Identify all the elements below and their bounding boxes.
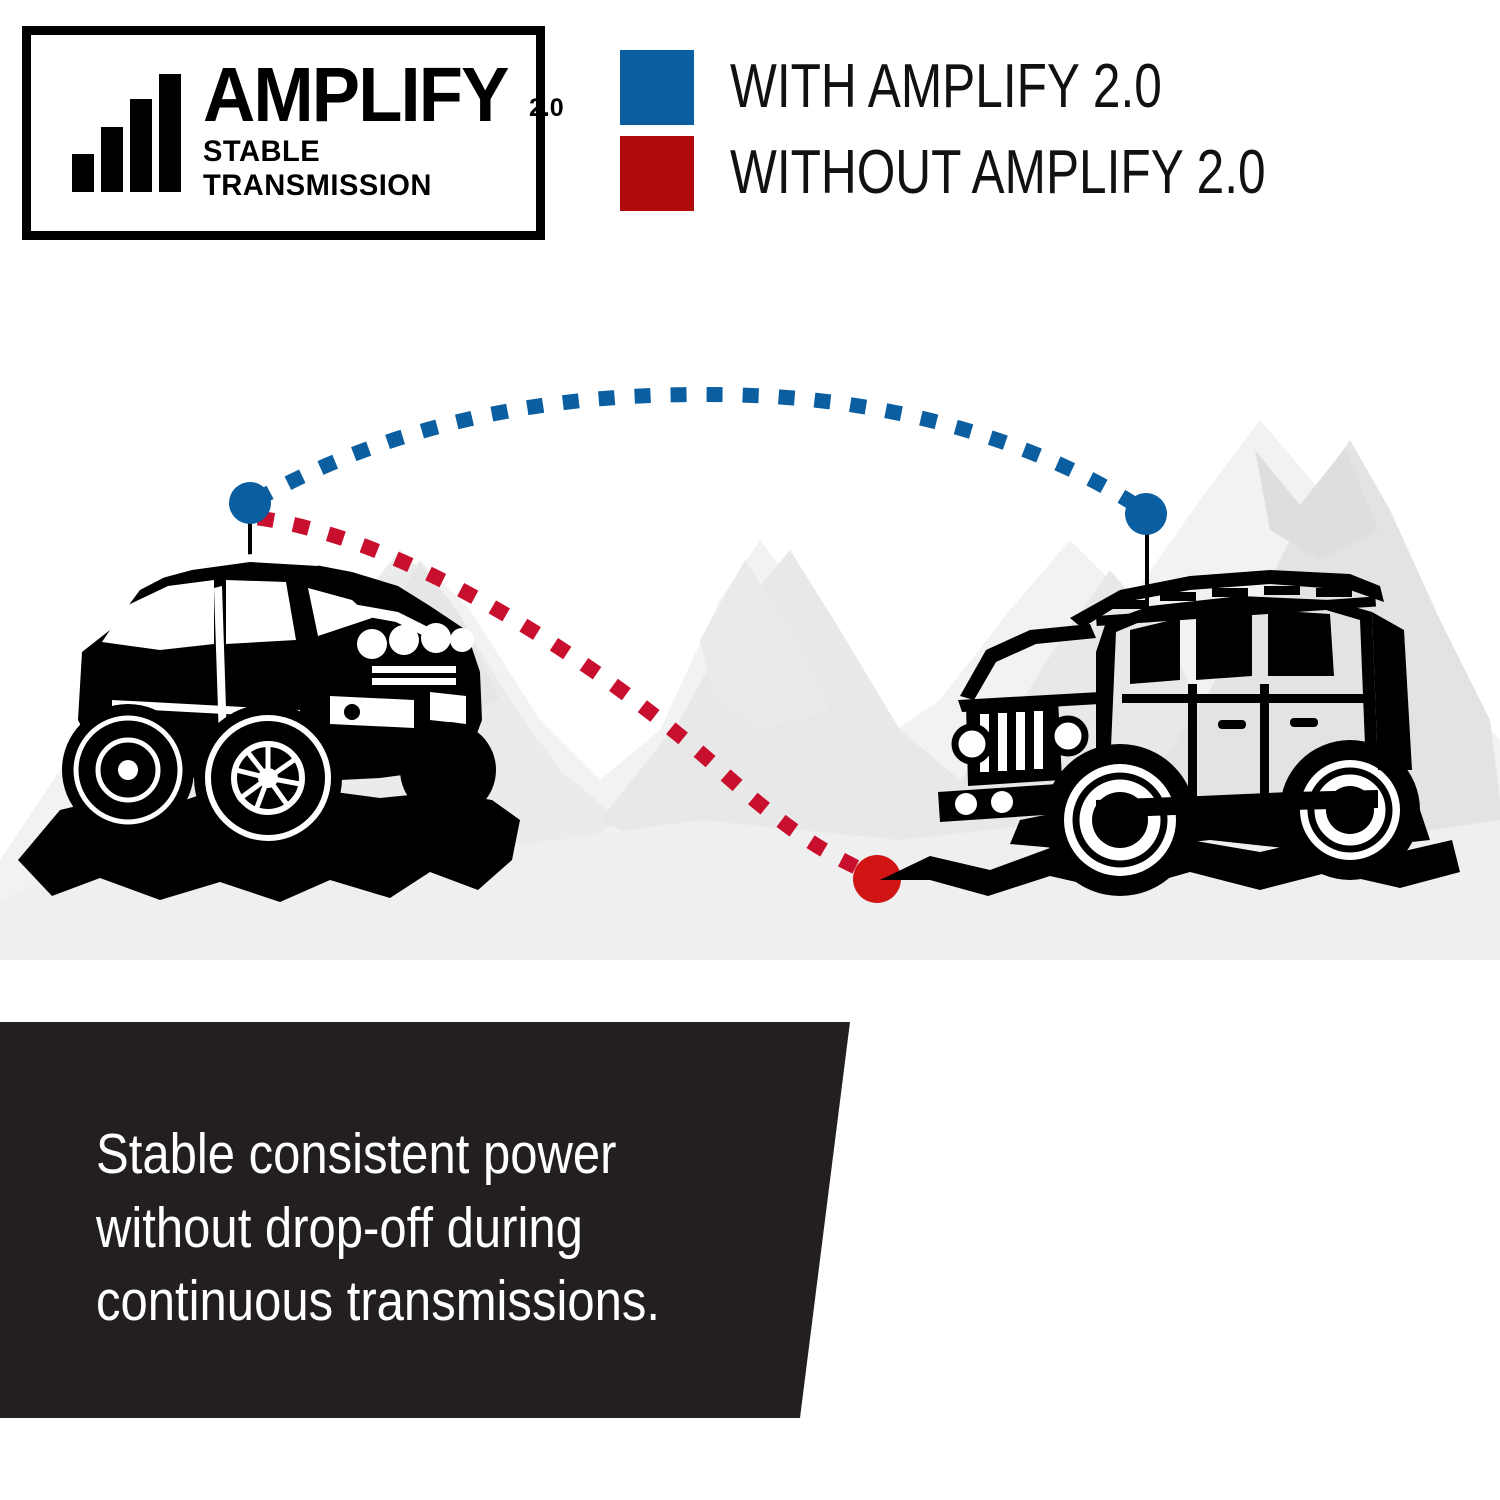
signal-bars-icon: [72, 74, 181, 192]
legend-label-without: WITHOUT AMPLIFY 2.0: [730, 142, 1266, 204]
logo-wordmark: AMPLIFY 2.0 STABLE TRANSMISSION: [203, 63, 564, 204]
signal-bar-3: [130, 99, 152, 192]
caption-line-3: continuous transmissions.: [96, 1265, 646, 1339]
logo-title: AMPLIFY: [203, 63, 508, 128]
logo-subtitle: STABLE TRANSMISSION: [203, 135, 553, 203]
with-amplify-signal-arc: [256, 394, 1140, 508]
logo-inner: AMPLIFY 2.0 STABLE TRANSMISSION: [40, 44, 527, 222]
right-antenna-node: [1125, 493, 1167, 535]
signal-bar-1: [72, 154, 94, 192]
legend-label-with: WITH AMPLIFY 2.0: [730, 56, 1162, 118]
signal-bar-4: [159, 74, 181, 192]
caption-line-2: without drop-off during: [96, 1192, 646, 1266]
legend-swatch-with: [620, 50, 694, 125]
legend-swatch-without: [620, 136, 694, 211]
amplify-logo-badge: AMPLIFY 2.0 STABLE TRANSMISSION: [22, 26, 545, 240]
caption-text: Stable consistent power without drop-off…: [96, 1118, 646, 1339]
logo-version-badge: 2.0: [529, 96, 564, 121]
legend: WITH AMPLIFY 2.0 WITHOUT AMPLIFY 2.0: [620, 44, 1400, 216]
signal-bar-2: [101, 127, 123, 192]
caption-line-1: Stable consistent power: [96, 1118, 646, 1192]
legend-item-without: WITHOUT AMPLIFY 2.0: [620, 130, 1400, 216]
legend-item-with: WITH AMPLIFY 2.0: [620, 44, 1400, 130]
wordmark-row: AMPLIFY 2.0: [203, 63, 564, 128]
illustration-stage: [0, 300, 1500, 960]
left-antenna-node: [229, 482, 271, 524]
